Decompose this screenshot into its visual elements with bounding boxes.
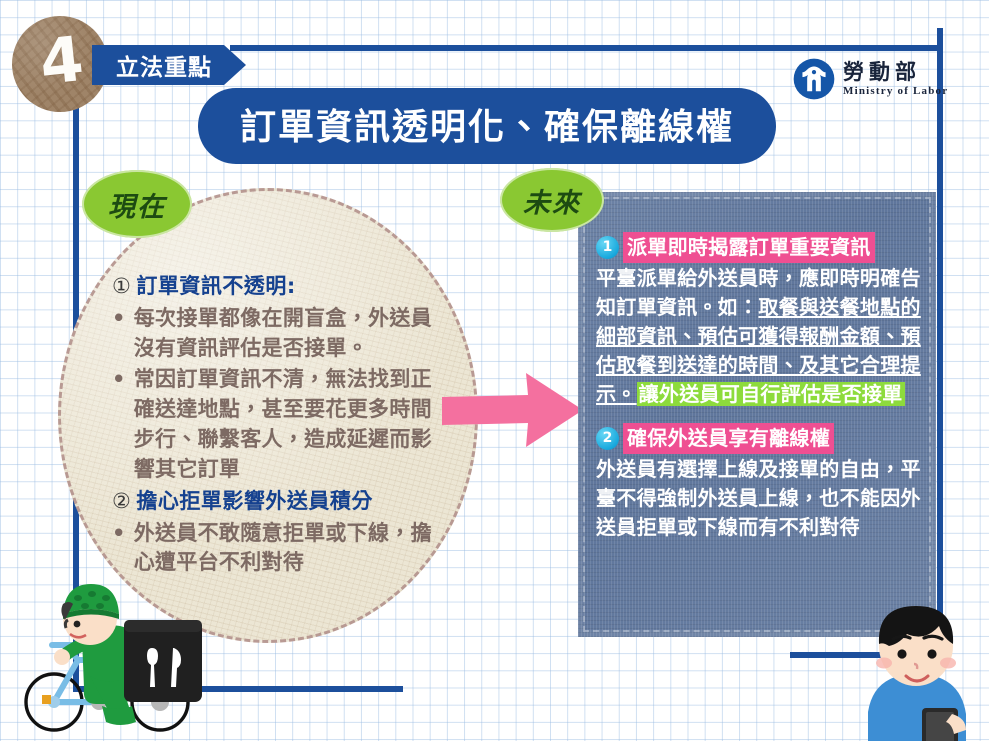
present-item-1-bullet-2-text: 常因訂單資訊不清，無法找到正確送達地點，甚至要花更多時間步行、聯繫客人，造成延遲…: [134, 365, 442, 484]
future-item-2-heading: 2 確保外送員享有離線權: [596, 423, 926, 454]
future-item-1-body-highlight: 讓外送員可自行評估是否接單: [637, 382, 905, 406]
pennant-tip-icon: [224, 45, 246, 85]
ministry-of-labor-emblem-icon: [793, 58, 835, 100]
future-item-1-body: 平臺派單給外送員時，應即時明確告知訂單資訊。如：取餐與送餐地點的細部資訊、預估可…: [596, 264, 926, 409]
pennant-body: 立法重點: [92, 45, 224, 85]
future-item-1: 1 派單即時揭露訂單重要資訊 平臺派單給外送員時，應即時明確告知訂單資訊。如：取…: [596, 232, 926, 409]
present-item-1-bullet-1: • 每次接單都像在開盲盒，外送員沒有資訊評估是否接單。: [112, 304, 442, 364]
future-content: 1 派單即時揭露訂單重要資訊 平臺派單給外送員時，應即時明確告知訂單資訊。如：取…: [596, 232, 926, 556]
delivery-cyclist-illustration: [16, 556, 211, 741]
ministry-logo-text: 勞動部 Ministry of Labor: [843, 62, 948, 97]
bullet-dot-icon: •: [112, 365, 126, 484]
present-item-1-number: ①: [112, 272, 131, 302]
slide-canvas: 4 立法重點 訂單資訊透明化、確保離線權 勞動部 Ministry of Lab…: [0, 0, 989, 741]
present-item-2-heading-text: 擔心拒單影響外送員積分: [136, 487, 373, 517]
frame-line-right: [937, 28, 943, 658]
pennant-label: 立法重點: [116, 48, 212, 82]
ministry-name-cn: 勞動部: [843, 62, 948, 83]
future-item-2-heading-text: 確保外送員享有離線權: [623, 423, 834, 454]
future-item-1-heading-text: 派單即時揭露訂單重要資訊: [623, 232, 875, 263]
present-item-2-number: ②: [112, 487, 131, 517]
present-item-1-heading-text: 訂單資訊不透明:: [136, 272, 295, 302]
section-number-text: 4: [37, 28, 86, 94]
future-item-2-body: 外送員有選擇上線及接單的自由，平臺不得強制外送員上線，也不能因外送員拒單或下線而…: [596, 455, 926, 542]
tab-present-label: 現在: [108, 185, 166, 224]
page-title-text: 訂單資訊透明化、確保離線權: [240, 107, 734, 148]
tab-future[interactable]: 未來: [500, 168, 604, 232]
tab-future-label: 未來: [523, 181, 581, 220]
tab-present[interactable]: 現在: [82, 170, 192, 238]
person-with-smartphone-illustration: [848, 602, 989, 741]
future-item-2-number-badge: 2: [596, 427, 619, 450]
present-content: ① 訂單資訊不透明: • 每次接單都像在開盲盒，外送員沒有資訊評估是否接單。 •…: [112, 272, 442, 580]
future-item-1-heading: 1 派單即時揭露訂單重要資訊: [596, 232, 926, 263]
ministry-name-en: Ministry of Labor: [843, 86, 948, 97]
bullet-dot-icon: •: [112, 304, 126, 364]
page-title: 訂單資訊透明化、確保離線權: [198, 88, 776, 164]
right-arrow-icon: [440, 365, 585, 455]
present-item-1-heading: ① 訂單資訊不透明:: [112, 272, 442, 302]
future-item-1-number-badge: 1: [596, 236, 619, 259]
future-item-2: 2 確保外送員享有離線權 外送員有選擇上線及接單的自由，平臺不得強制外送員上線，…: [596, 423, 926, 542]
header-rule: [230, 45, 940, 51]
pennant-banner: 立法重點: [92, 45, 246, 85]
present-item-1-bullet-2: • 常因訂單資訊不清，無法找到正確送達地點，甚至要花更多時間步行、聯繫客人，造成…: [112, 365, 442, 484]
present-item-1-bullet-1-text: 每次接單都像在開盲盒，外送員沒有資訊評估是否接單。: [134, 304, 442, 364]
future-item-2-body-plain: 外送員有選擇上線及接單的自由，平臺不得強制外送員上線，也不能因外送員拒單或下線而…: [596, 457, 921, 539]
ministry-logo: 勞動部 Ministry of Labor: [793, 58, 948, 100]
present-item-2-heading: ② 擔心拒單影響外送員積分: [112, 487, 442, 517]
